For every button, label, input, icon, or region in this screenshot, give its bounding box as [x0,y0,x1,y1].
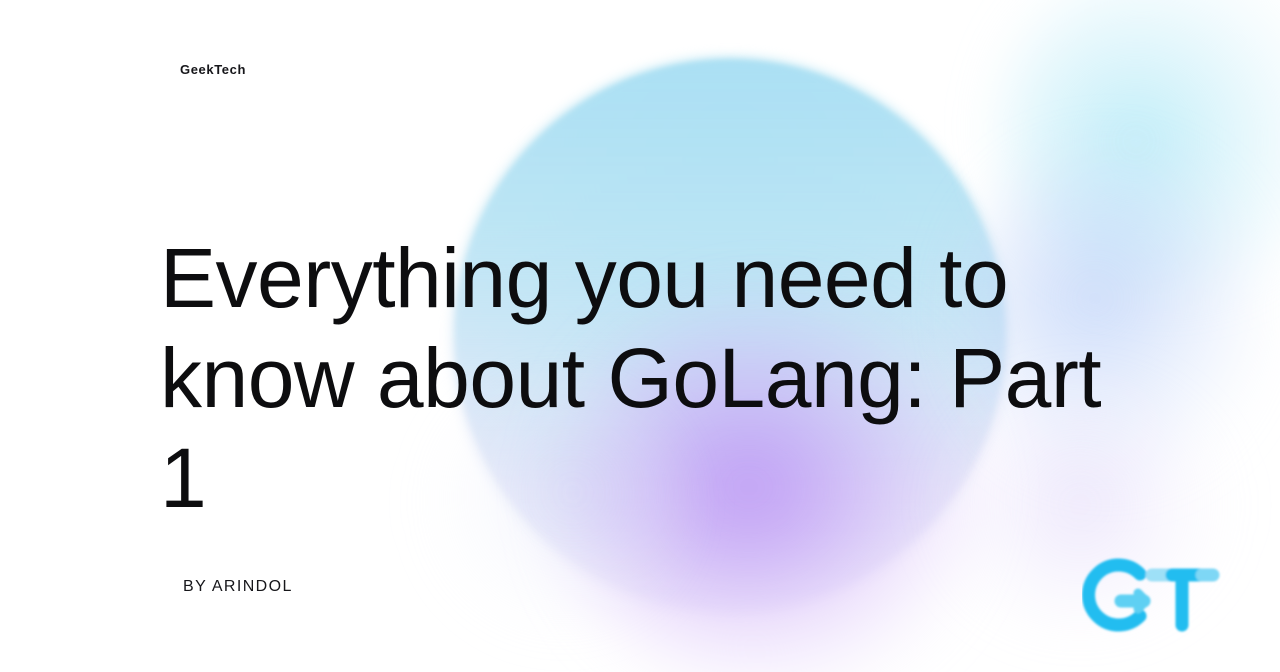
author-byline: BY ARINDOL [183,578,293,596]
gt-logo-icon [1082,552,1232,638]
page-title: Everything you need to know about GoLang… [160,228,1160,528]
gt-logo [1082,552,1232,638]
brand-label: GeekTech [180,62,246,77]
cover-content: GeekTech Everything you need to know abo… [0,0,1280,672]
cover-canvas: GeekTech Everything you need to know abo… [0,0,1280,672]
